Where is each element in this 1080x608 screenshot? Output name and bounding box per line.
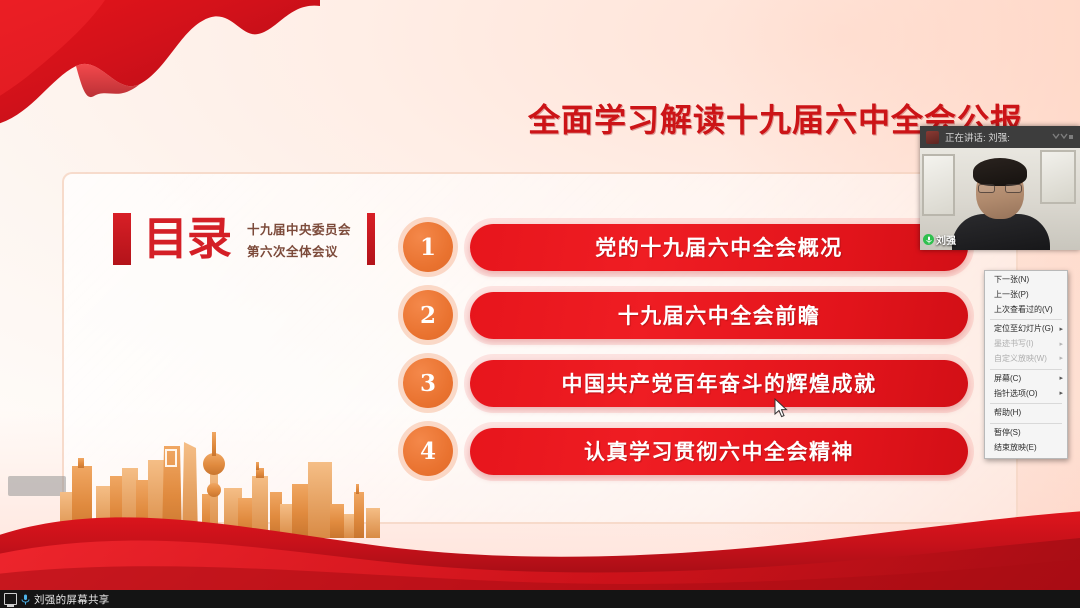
submenu-arrow-icon: ▸ <box>1059 390 1063 398</box>
toc-subtitle-line2: 第六次全体会议 <box>247 241 351 260</box>
window-left <box>922 154 955 216</box>
agenda-item-label[interactable]: 党的十九届六中全会概况 <box>470 224 968 271</box>
mic-glyph-icon <box>926 236 932 244</box>
menu-item-label: 下一张(N) <box>994 275 1029 284</box>
menu-item-end-show[interactable]: 结束放映(E) <box>985 441 1067 456</box>
speaking-status-label: 正在讲话: 刘强: <box>945 130 1010 144</box>
speaker-video-thumbnail[interactable]: 正在讲话: 刘强: <box>920 126 1080 250</box>
screen-share-window: 全面学习解读十九届六中全会公报 目录 十九届中央委员会 第六次全体会议 1 党的… <box>0 0 1080 608</box>
agenda-number-badge: 2 <box>403 290 453 340</box>
avatar-icon <box>926 131 939 144</box>
menu-item-label: 定位至幻灯片(G) <box>994 324 1054 333</box>
menu-item-go-to-slide[interactable]: 定位至幻灯片(G) ▸ <box>985 322 1067 337</box>
menu-item-pause[interactable]: 暂停(S) <box>985 426 1067 441</box>
toc-heading-text: 目录 <box>143 218 231 261</box>
menu-item-last-viewed[interactable]: 上次查看过的(V) <box>985 303 1067 318</box>
glasses-icon <box>978 184 1022 193</box>
menu-item-label: 指针选项(O) <box>994 389 1038 398</box>
menu-item-screen[interactable]: 屏幕(C) ▸ <box>985 372 1067 387</box>
menu-item-label: 上一张(P) <box>994 290 1029 299</box>
decorative-bar-left <box>113 213 131 265</box>
menu-item-label: 暂停(S) <box>994 428 1021 437</box>
toc-subtitle-line1: 十九届中央委员会 <box>247 219 351 238</box>
agenda-number-badge: 3 <box>403 358 453 408</box>
menu-item-help[interactable]: 帮助(H) <box>985 406 1067 421</box>
window-right <box>1040 150 1076 204</box>
menu-item-label: 帮助(H) <box>994 408 1021 417</box>
menu-item-label: 上次查看过的(V) <box>994 305 1053 314</box>
chevron-controls-icon <box>1052 133 1074 141</box>
red-ribbon-bottom-decoration <box>0 450 1080 590</box>
submenu-arrow-icon: ▸ <box>1059 375 1063 383</box>
menu-separator <box>990 423 1062 424</box>
submenu-arrow-icon: ▸ <box>1059 356 1063 364</box>
participant-name-badge: 刘强 <box>923 232 956 247</box>
agenda-number-badge: 1 <box>403 222 453 272</box>
slideshow-context-menu[interactable]: 下一张(N) 上一张(P) 上次查看过的(V) 定位至幻灯片(G) ▸ 墨迹书写… <box>984 270 1068 459</box>
menu-item-next-slide[interactable]: 下一张(N) <box>985 273 1067 288</box>
video-feed: 刘强 <box>920 148 1080 250</box>
participant-name: 刘强 <box>936 232 956 247</box>
decorative-bar-right <box>367 213 375 265</box>
powerpoint-slide[interactable]: 全面学习解读十九届六中全会公报 目录 十九届中央委员会 第六次全体会议 1 党的… <box>0 0 1080 590</box>
submenu-arrow-icon: ▸ <box>1059 326 1063 334</box>
toc-subtitle: 十九届中央委员会 第六次全体会议 <box>247 219 351 260</box>
menu-item-custom-show: 自定义放映(W) ▸ <box>985 352 1067 367</box>
screen-share-status-bar: 刘强的屏幕共享 <box>0 590 1080 608</box>
table-of-contents-heading: 目录 十九届中央委员会 第六次全体会议 <box>113 213 375 265</box>
red-ribbon-top-decoration <box>0 0 320 127</box>
video-thumbnail-header[interactable]: 正在讲话: 刘强: <box>920 126 1080 148</box>
list-item[interactable]: 2 十九届六中全会前瞻 <box>403 290 968 340</box>
agenda-list: 1 党的十九届六中全会概况 2 十九届六中全会前瞻 3 中国共产党百年奋斗的辉煌… <box>403 222 968 476</box>
menu-item-pointer-options[interactable]: 指针选项(O) ▸ <box>985 387 1067 402</box>
menu-item-label: 墨迹书写(I) <box>994 339 1034 348</box>
menu-separator <box>990 403 1062 404</box>
microphone-icon <box>21 594 30 605</box>
menu-separator <box>990 319 1062 320</box>
window-controls-icon[interactable] <box>1052 133 1074 141</box>
menu-item-ink-writing: 墨迹书写(I) ▸ <box>985 337 1067 352</box>
agenda-item-label[interactable]: 十九届六中全会前瞻 <box>470 292 968 339</box>
submenu-arrow-icon: ▸ <box>1059 341 1063 349</box>
list-item[interactable]: 1 党的十九届六中全会概况 <box>403 222 968 272</box>
list-item[interactable]: 3 中国共产党百年奋斗的辉煌成就 <box>403 358 968 408</box>
menu-separator <box>990 369 1062 370</box>
menu-item-label: 自定义放映(W) <box>994 354 1047 363</box>
person-body <box>952 214 1050 250</box>
agenda-item-label[interactable]: 中国共产党百年奋斗的辉煌成就 <box>470 360 968 407</box>
share-status-label: 刘强的屏幕共享 <box>34 592 110 607</box>
menu-item-previous-slide[interactable]: 上一张(P) <box>985 288 1067 303</box>
screen-share-icon <box>4 593 17 605</box>
person-hair <box>973 158 1027 186</box>
microphone-icon <box>923 234 934 245</box>
menu-item-label: 屏幕(C) <box>994 374 1021 383</box>
menu-item-label: 结束放映(E) <box>994 443 1037 452</box>
